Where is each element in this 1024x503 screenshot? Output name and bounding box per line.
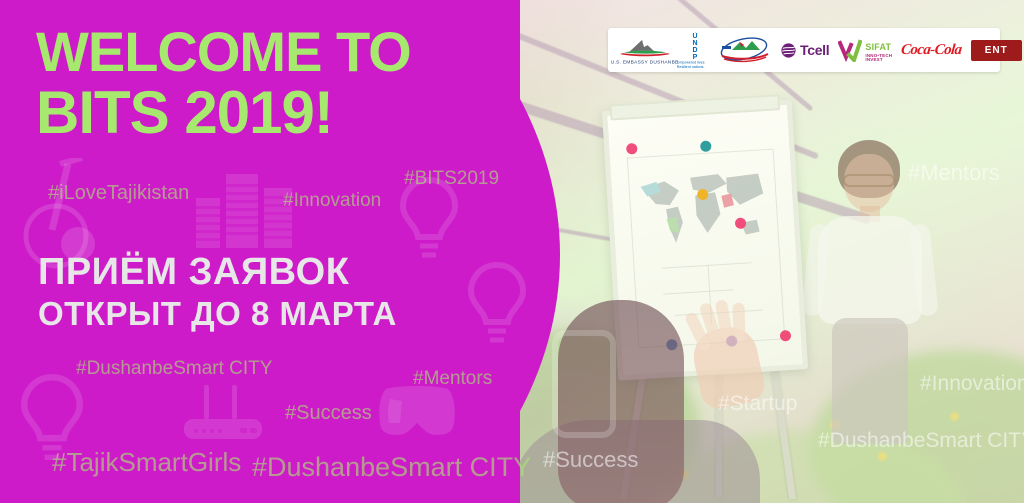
hashtag: #Innovation	[283, 190, 381, 212]
flower	[950, 412, 959, 421]
hashtag: #DushanbeSmart CITY	[252, 452, 531, 483]
lightbulb-icon	[466, 260, 528, 350]
bits-2019-banner: WELCOME TO BITS 2019! ПРИЁМ ЗАЯВОК ОТКРЫ…	[0, 0, 1024, 503]
headline-line-1: WELCOME TO	[36, 22, 411, 82]
logo-tajikistan-tourism	[717, 33, 771, 67]
hashtag: #Success	[285, 402, 372, 425]
vr-goggles-icon	[378, 385, 456, 437]
subheadline-line-1: ПРИЁМ ЗАЯВОК	[38, 250, 397, 294]
hashtag: #DushanbeSmart CITY	[76, 358, 272, 380]
logo-us-embassy-dushanbe: U.S. EMBASSY DUSHANBE	[617, 33, 673, 67]
flower	[878, 452, 887, 461]
logo-ent[interactable]: ENT	[971, 40, 1022, 61]
hashtag: #Innovation	[920, 372, 1024, 396]
hashtag: #DushanbeSmart CITY	[818, 429, 1024, 453]
logo-undp: UNDP Empowered lives. Resilient nations.	[682, 32, 708, 68]
router-icon	[184, 385, 262, 441]
buildings-icon	[196, 170, 296, 248]
hashtag: #Mentors	[908, 160, 1000, 186]
logo-tcell-text: Tcell	[800, 42, 829, 58]
hashtag: #Success	[543, 447, 638, 473]
smartphone-frame-icon	[552, 330, 616, 438]
logo-coca-cola: Coca-Cola	[900, 42, 962, 59]
hashtag: #TajikSmartGirls	[52, 447, 241, 478]
subheadline-line-2: ОТКРЫТ ДО 8 МАРТА	[38, 294, 397, 334]
world-map-diagram	[633, 159, 768, 257]
hashtag: #iLoveTajikistan	[48, 182, 189, 205]
hashtag: #BITS2019	[404, 168, 499, 190]
logo-sifat-text: SIFAT INNO•TECH INVEST	[865, 38, 892, 63]
trousers	[832, 318, 908, 444]
glasses-icon	[843, 174, 895, 187]
logo-caption: U.S. EMBASSY DUSHANBE	[611, 59, 679, 65]
logo-tcell: Tcell	[780, 42, 829, 59]
sponsor-logo-bar: U.S. EMBASSY DUSHANBE UNDP Empowered liv…	[608, 28, 1000, 72]
logo-sifat-line3: INVEST	[865, 58, 892, 63]
logo-sifat-line1: SIFAT	[865, 42, 891, 52]
hashtag: #Mentors	[413, 368, 492, 390]
hashtag: #Startup	[718, 392, 797, 416]
subheadline: ПРИЁМ ЗАЯВОК ОТКРЫТ ДО 8 МАРТА	[38, 250, 397, 334]
headline-line-2: BITS 2019!	[36, 82, 411, 144]
logo-caption: Empowered lives. Resilient nations.	[677, 61, 713, 69]
page-title: WELCOME TO BITS 2019!	[36, 22, 411, 144]
blouse	[818, 216, 922, 324]
logo-undp-letters: UNDP	[692, 33, 697, 61]
logo-sifat: SIFAT INNO•TECH INVEST	[838, 38, 892, 63]
